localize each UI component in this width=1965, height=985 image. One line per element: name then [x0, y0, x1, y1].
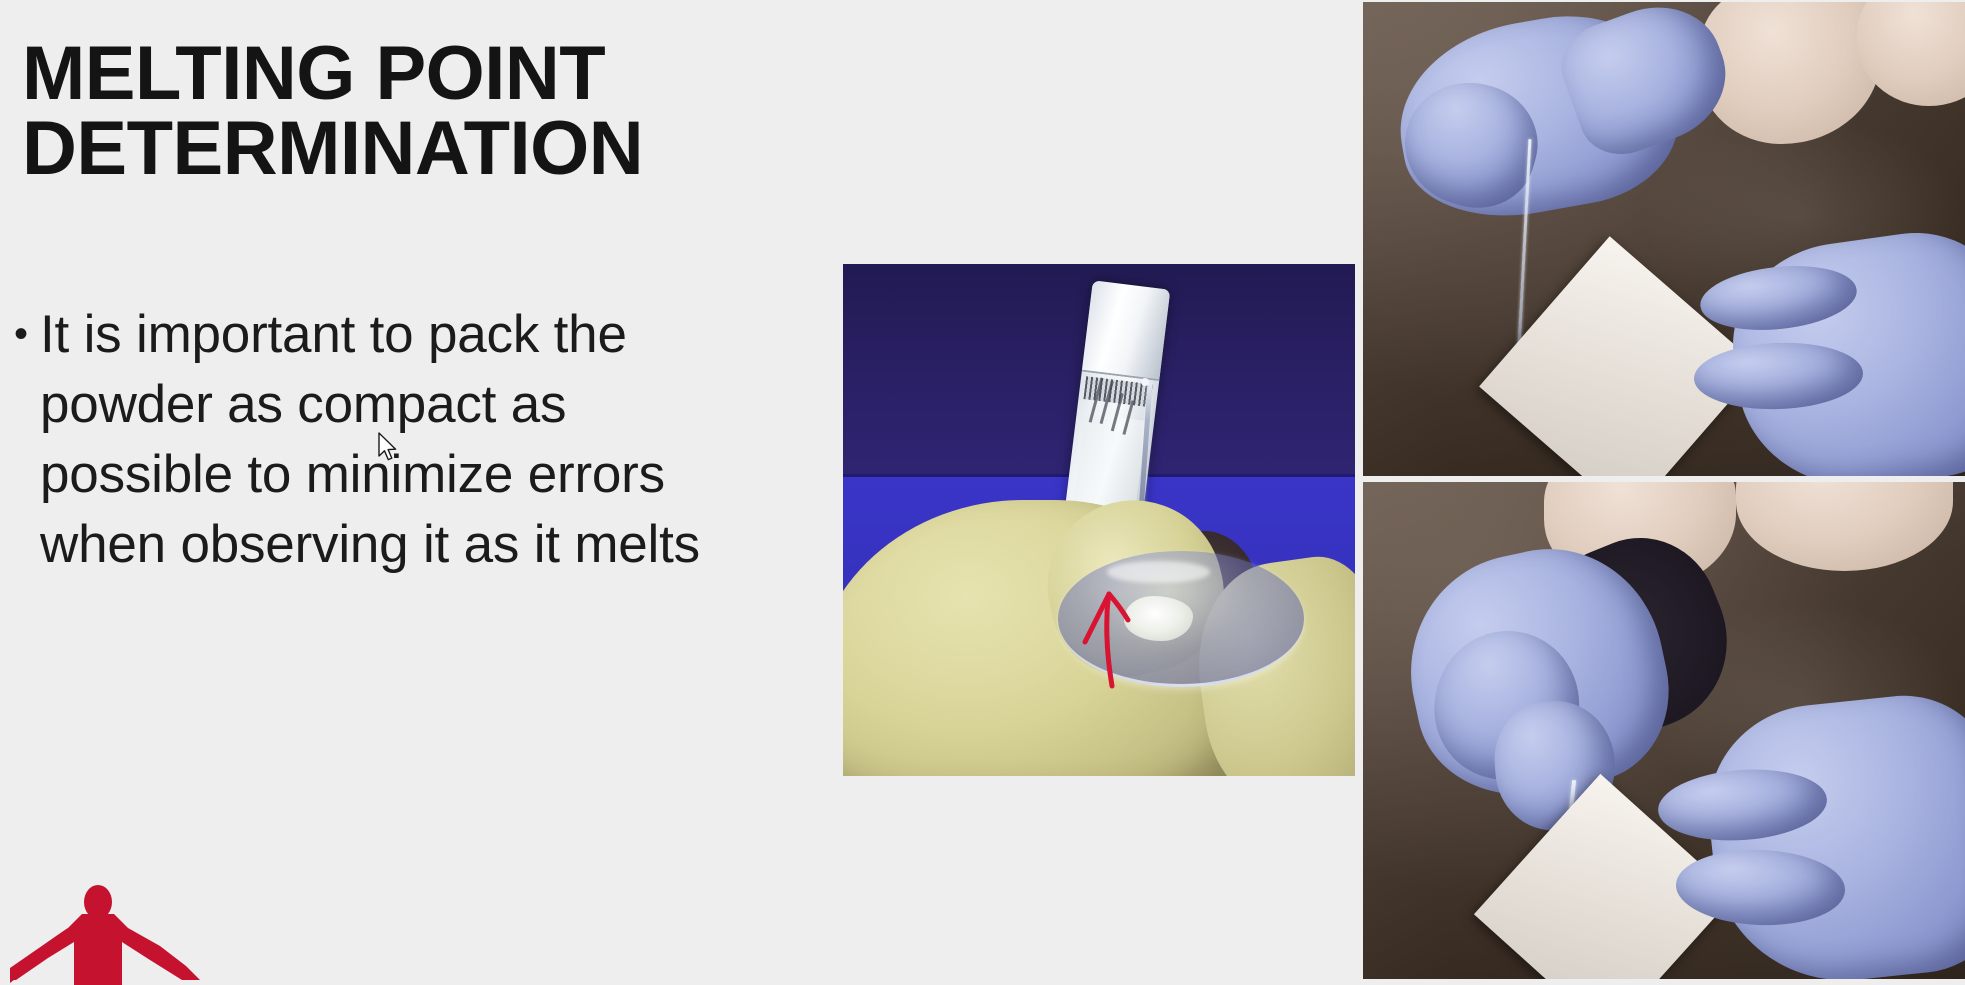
presentation-slide: MELTING POINT DETERMINATION • It is impo…	[0, 0, 1965, 985]
watch-glass	[1058, 551, 1304, 687]
watch-glass-highlight	[1107, 561, 1210, 582]
top-right-photo	[1363, 2, 1965, 476]
red-human-figure-logo	[10, 880, 330, 985]
capillary-tube-tip	[1141, 378, 1149, 386]
mouse-pointer	[377, 432, 399, 464]
white-powder-sample	[1124, 596, 1193, 641]
bullet-marker-icon: •	[14, 314, 28, 354]
bottom-right-photo	[1363, 482, 1965, 979]
slide-title: MELTING POINT DETERMINATION	[22, 36, 862, 186]
vial-cap	[1082, 281, 1171, 382]
center-photo	[843, 264, 1355, 776]
